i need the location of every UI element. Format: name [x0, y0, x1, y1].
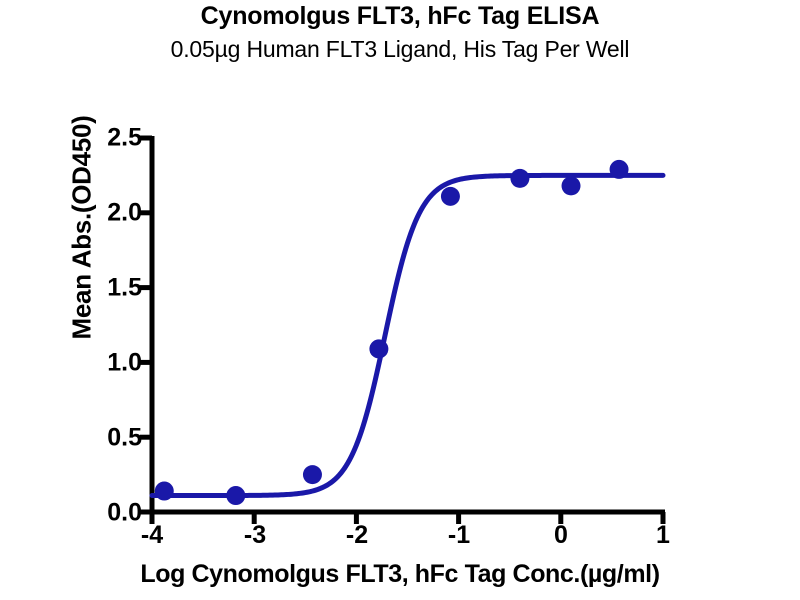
data-point [369, 339, 388, 358]
data-point [226, 486, 245, 505]
data-point [562, 176, 581, 195]
data-point [155, 482, 174, 501]
data-point [441, 187, 460, 206]
data-point-group [155, 160, 629, 505]
plot-svg [0, 0, 800, 600]
sigmoid-fit-curve [152, 175, 663, 495]
axis-lines [150, 136, 665, 512]
data-point [303, 465, 322, 484]
elisa-chart-figure: Cynomolgus FLT3, hFc Tag ELISA 0.05µg Hu… [0, 0, 800, 600]
data-point [610, 160, 629, 179]
data-point [510, 169, 529, 188]
